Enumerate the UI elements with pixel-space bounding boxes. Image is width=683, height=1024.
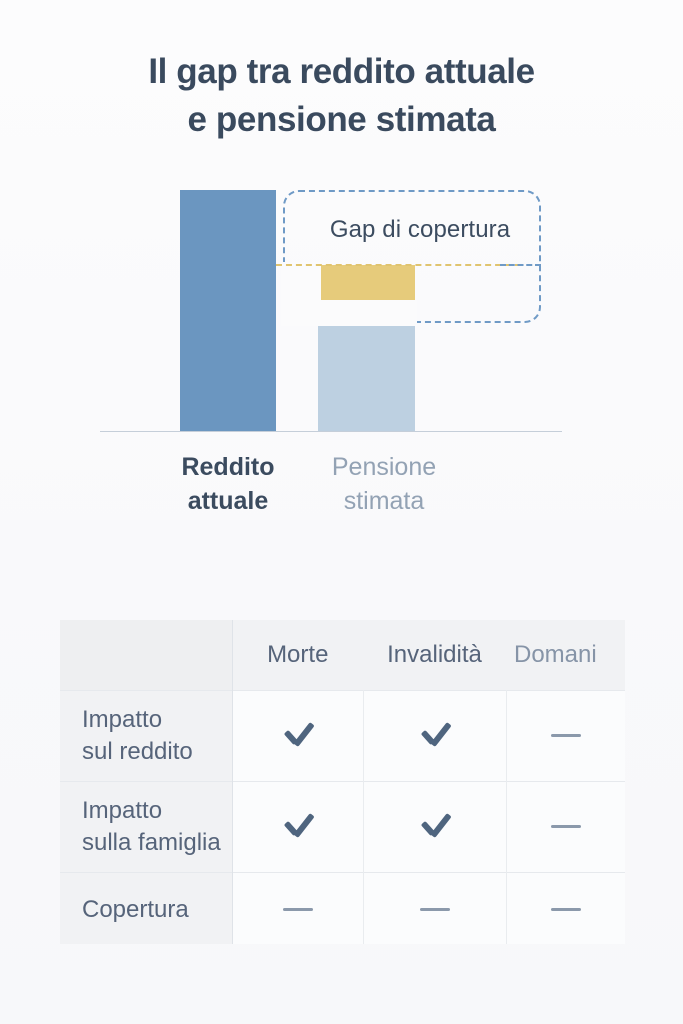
dash-icon bbox=[551, 734, 581, 737]
infographic-page: Il gap tra reddito attuale e pensione st… bbox=[0, 0, 683, 1024]
matrix-cell-0-1 bbox=[363, 691, 506, 782]
axis-label-pensione-stimata: Pensione stimata bbox=[296, 450, 472, 518]
dash-icon bbox=[283, 908, 313, 911]
matrix-header: Morte Invalidità Domani bbox=[60, 620, 625, 691]
matrix-cell-0-0 bbox=[232, 691, 363, 782]
matrix-cell-1-0 bbox=[232, 782, 363, 873]
matrix-cell-2-1 bbox=[363, 873, 506, 945]
gap-bar-chart: Gap di copertura Reddito attuale Pension… bbox=[0, 0, 683, 560]
matrix-cell-1-1 bbox=[363, 782, 506, 873]
matrix-header-domani: Domani bbox=[506, 620, 625, 691]
gap-annotation-label: Gap di copertura bbox=[300, 214, 540, 246]
coverage-matrix: Morte Invalidità Domani Impatto sul redd… bbox=[60, 620, 625, 944]
matrix-body: Impatto sul reddito Impatto sulla famigl… bbox=[60, 691, 625, 945]
table-row: Impatto sulla famiglia bbox=[60, 782, 625, 873]
matrix-header-blank bbox=[60, 620, 232, 691]
matrix-cell-2-2 bbox=[506, 873, 625, 945]
dash-icon bbox=[551, 908, 581, 911]
dash-icon bbox=[420, 908, 450, 911]
bar-segment-pensione-base bbox=[318, 322, 415, 431]
table-row: Impatto sul reddito bbox=[60, 691, 625, 782]
table-row: Copertura bbox=[60, 873, 625, 945]
check-icon bbox=[281, 808, 315, 842]
check-icon bbox=[281, 717, 315, 751]
bar-reddito-attuale bbox=[180, 190, 276, 431]
matrix-row-label-impatto-sulla-famiglia: Impatto sulla famiglia bbox=[60, 782, 232, 873]
matrix-header-invalidita: Invalidità bbox=[363, 620, 506, 691]
check-icon bbox=[418, 717, 452, 751]
coverage-matrix-table: Morte Invalidità Domani Impatto sul redd… bbox=[60, 620, 625, 944]
matrix-cell-2-0 bbox=[232, 873, 363, 945]
chart-baseline bbox=[100, 431, 562, 432]
dash-icon bbox=[551, 825, 581, 828]
matrix-row-label-copertura: Copertura bbox=[60, 873, 232, 945]
axis-label-reddito-attuale: Reddito attuale bbox=[140, 450, 316, 518]
matrix-cell-1-2 bbox=[506, 782, 625, 873]
matrix-header-morte: Morte bbox=[232, 620, 363, 691]
matrix-cell-0-2 bbox=[506, 691, 625, 782]
gap-level-dashed-line bbox=[276, 264, 521, 266]
check-icon bbox=[418, 808, 452, 842]
matrix-row-label-impatto-sul-reddito: Impatto sul reddito bbox=[60, 691, 232, 782]
matrix-header-row: Morte Invalidità Domani bbox=[60, 620, 625, 691]
gap-box-mask-b bbox=[281, 262, 321, 326]
gap-level-dashed-line-blue bbox=[500, 264, 541, 266]
